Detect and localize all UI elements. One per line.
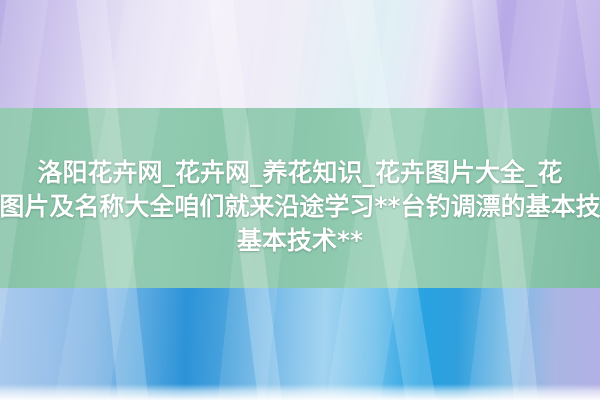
- headline-text-overlay: 洛阳花卉网_花卉网_养花知识_花卉图片大全_花 图片及名称大全咱们就来沿途学习*…: [0, 0, 600, 400]
- image-banner: 洛阳花卉网_花卉网_养花知识_花卉图片大全_花 图片及名称大全咱们就来沿途学习*…: [0, 0, 600, 400]
- headline-line-1: 洛阳花卉网_花卉网_养花知识_花卉图片大全_花: [37, 156, 562, 190]
- headline-line-2: 图片及名称大全咱们就来沿途学习**台钓调漂的基本技: [0, 190, 600, 224]
- headline-line-3: 基本技术**: [237, 224, 363, 258]
